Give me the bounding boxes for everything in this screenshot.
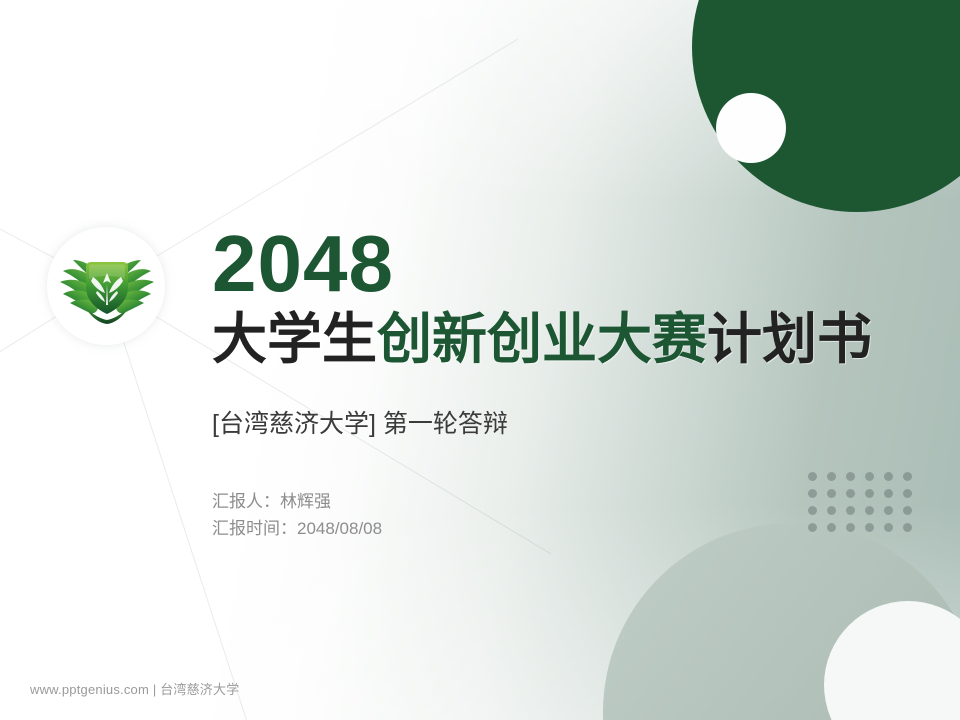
- title-text-block: 2048 大学生创新创业大赛计划书 [台湾慈济大学] 第一轮答辩 汇报人：林辉强…: [212, 222, 912, 542]
- presenter-line: 汇报人：林辉强: [212, 488, 912, 515]
- university-crest-logo-icon: [57, 245, 157, 327]
- slide-headline: 大学生创新创业大赛计划书: [212, 306, 912, 372]
- report-date-line: 汇报时间：2048/08/08: [212, 515, 912, 542]
- slide-year: 2048: [212, 222, 912, 306]
- slide-meta-block: 汇报人：林辉强 汇报时间：2048/08/08: [212, 488, 912, 542]
- slide-subtitle: [台湾慈济大学] 第一轮答辩: [212, 408, 912, 440]
- slide-footer: www.pptgenius.com | 台湾慈济大学: [30, 679, 239, 698]
- headline-part-2: 创新创业大赛: [377, 308, 707, 370]
- decorative-circle-white-top-right: [716, 93, 786, 163]
- headline-part-1: 大学生: [212, 308, 377, 370]
- presentation-slide: 2048 大学生创新创业大赛计划书 [台湾慈济大学] 第一轮答辩 汇报人：林辉强…: [0, 0, 960, 720]
- headline-part-3: 计划书: [707, 308, 872, 370]
